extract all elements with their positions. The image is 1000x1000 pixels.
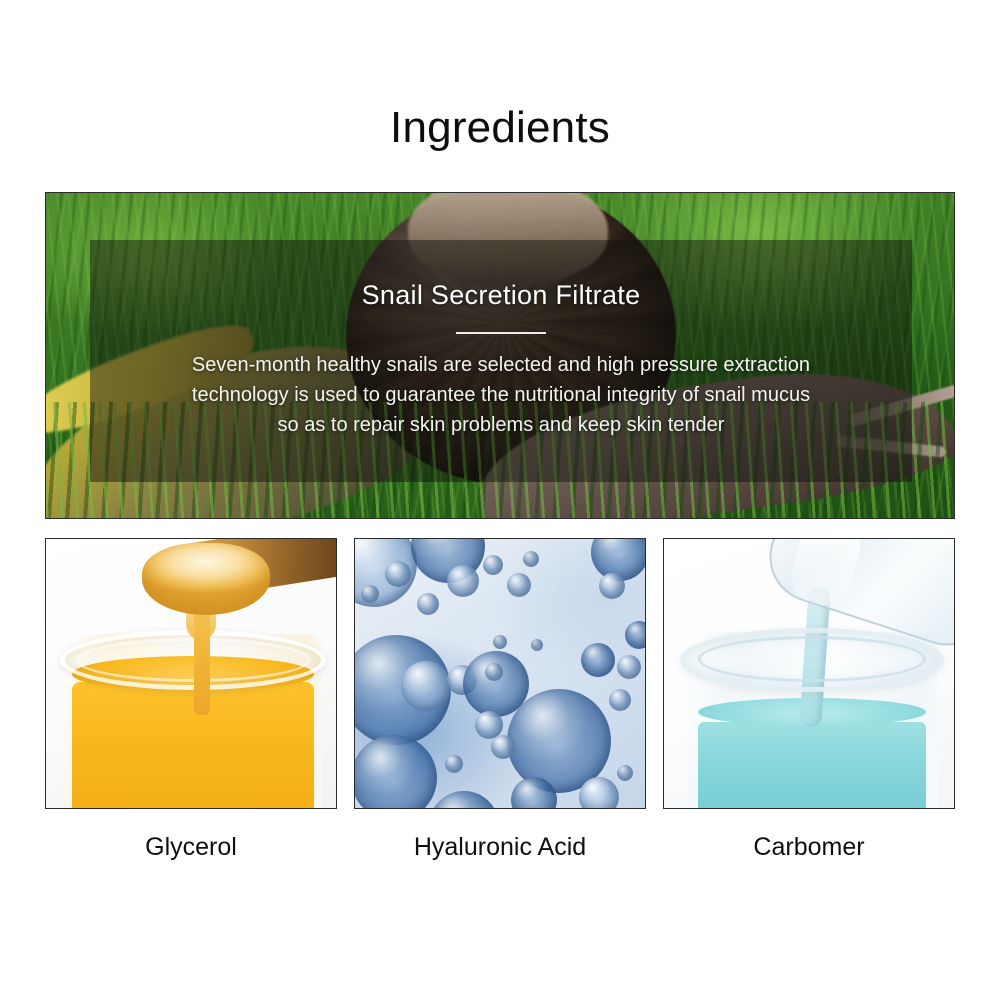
bubble bbox=[361, 585, 379, 603]
bubble bbox=[401, 661, 451, 711]
ingredients-page: Ingredients Snail Secretion Filtrate Sev… bbox=[0, 0, 1000, 1000]
carbomer-jar-rim-inner bbox=[698, 636, 926, 682]
hero-divider-rule bbox=[456, 332, 546, 334]
hero-description: Seven-month healthy snails are selected … bbox=[90, 350, 912, 440]
bubble bbox=[617, 655, 641, 679]
carbomer-jar-fill bbox=[698, 722, 926, 809]
ingredient-label-glycerol: Glycerol bbox=[45, 833, 337, 862]
honey-jar-fill bbox=[72, 682, 314, 809]
hyaluronic-acid-thumbnail bbox=[354, 538, 646, 809]
bubble bbox=[617, 765, 633, 781]
bubble bbox=[417, 593, 439, 615]
bubble bbox=[581, 643, 615, 677]
spoon-bowl-with-honey bbox=[142, 543, 270, 615]
bubble bbox=[507, 573, 531, 597]
hero-description-line-3: so as to repair skin problems and keep s… bbox=[90, 410, 912, 440]
bubble bbox=[447, 565, 479, 597]
bubble bbox=[491, 735, 515, 759]
ingredient-card-carbomer: Carbomer bbox=[663, 538, 955, 862]
ingredient-label-hyaluronic-acid: Hyaluronic Acid bbox=[354, 833, 646, 862]
ingredient-card-glycerol: Glycerol bbox=[45, 538, 337, 862]
ingredient-label-carbomer: Carbomer bbox=[663, 833, 955, 862]
bubble bbox=[625, 621, 646, 649]
bubble bbox=[493, 635, 507, 649]
bubble bbox=[485, 663, 503, 681]
hero-description-line-1: Seven-month healthy snails are selected … bbox=[90, 350, 912, 380]
carbomer-thumbnail bbox=[663, 538, 955, 809]
bubble bbox=[579, 777, 619, 809]
hero-text-overlay: Snail Secretion Filtrate Seven-month hea… bbox=[90, 240, 912, 482]
bubble bbox=[385, 561, 411, 587]
bubble bbox=[523, 551, 539, 567]
honey-jar-rim-inner bbox=[76, 638, 310, 682]
bubble bbox=[609, 689, 631, 711]
honey-drip-stream bbox=[194, 605, 210, 715]
hero-heading: Snail Secretion Filtrate bbox=[90, 280, 912, 311]
hero-description-line-2: technology is used to guarantee the nutr… bbox=[90, 380, 912, 410]
bubble bbox=[599, 573, 625, 599]
bubble bbox=[483, 555, 503, 575]
page-title: Ingredients bbox=[0, 104, 1000, 152]
glycerol-thumbnail bbox=[45, 538, 337, 809]
ingredient-card-row: Glycerol bbox=[45, 538, 955, 868]
bubble bbox=[531, 639, 543, 651]
hero-banner: Snail Secretion Filtrate Seven-month hea… bbox=[45, 192, 955, 519]
ingredient-card-hyaluronic-acid: Hyaluronic Acid bbox=[354, 538, 646, 862]
bubble bbox=[445, 755, 463, 773]
